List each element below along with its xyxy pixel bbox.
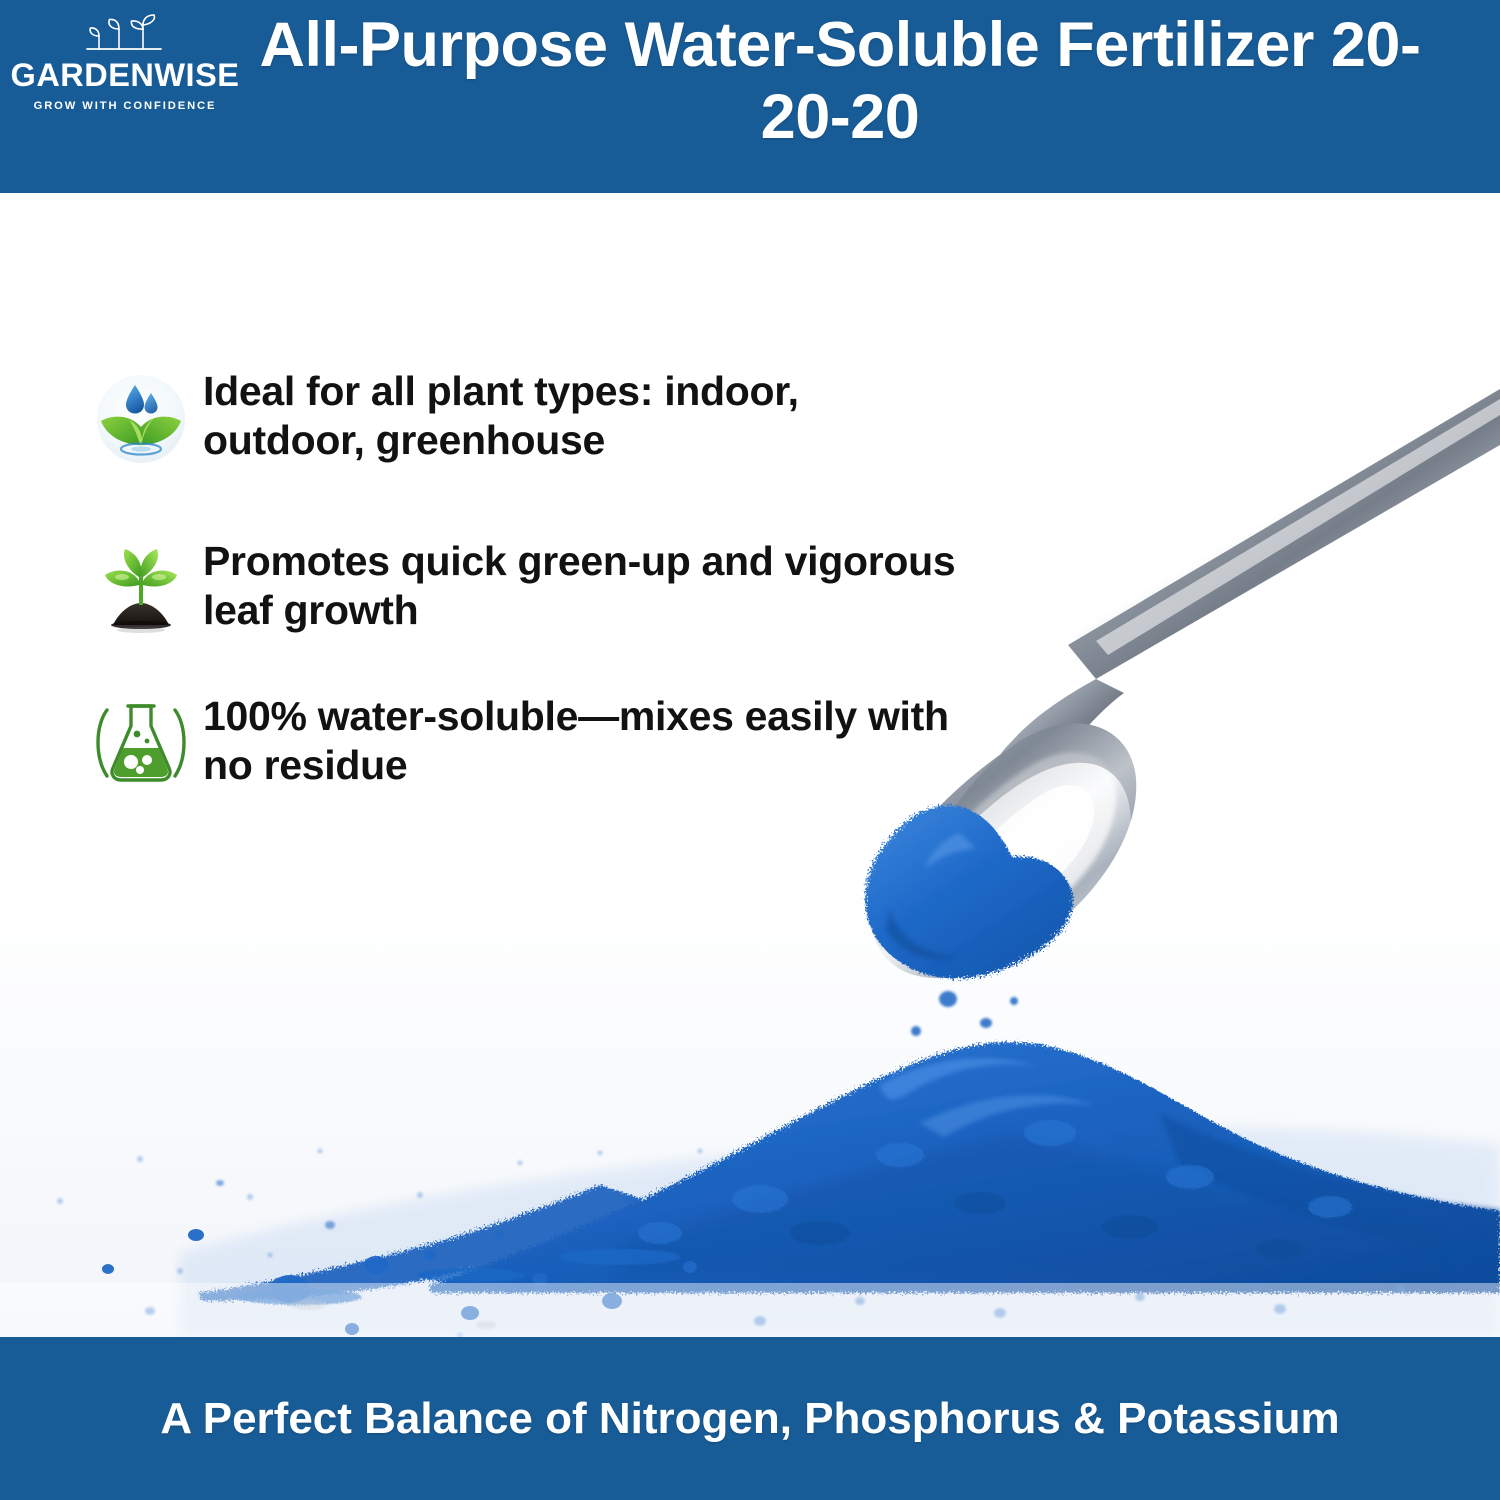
feature-icon-wrap <box>78 363 203 471</box>
feature-item: Promotes quick green-up and vigorous lea… <box>78 533 998 641</box>
brand-tagline: GROW WITH CONFIDENCE <box>34 101 217 112</box>
footer-band: A Perfect Balance of Nitrogen, Phosphoru… <box>0 1337 1500 1500</box>
feature-icon-wrap <box>78 533 203 641</box>
product-infographic: GARDENWISE GROW WITH CONFIDENCE All-Purp… <box>0 0 1500 1500</box>
feature-icon-wrap <box>78 688 203 796</box>
feature-item: 100% water-soluble—mixes easily with no … <box>78 688 998 796</box>
feature-item: Ideal for all plant types: indoor, outdo… <box>78 363 998 471</box>
feature-text: 100% water-soluble—mixes easily with no … <box>203 688 963 790</box>
leaf-water-drop-icon <box>89 367 193 471</box>
page-title: All-Purpose Water-Soluble Fertilizer 20-… <box>250 10 1430 154</box>
seedling-sprouts-icon <box>65 12 185 56</box>
feature-text: Promotes quick green-up and vigorous lea… <box>203 533 963 635</box>
footer-tagline: A Perfect Balance of Nitrogen, Phosphoru… <box>160 1394 1339 1444</box>
seedling-soil-icon <box>89 537 193 641</box>
brand-logo: GARDENWISE GROW WITH CONFIDENCE <box>8 12 242 116</box>
brand-name: GARDENWISE <box>11 59 240 92</box>
header-band: GARDENWISE GROW WITH CONFIDENCE All-Purp… <box>0 0 1500 193</box>
flask-soluble-icon <box>87 692 195 796</box>
feature-text: Ideal for all plant types: indoor, outdo… <box>203 363 963 465</box>
